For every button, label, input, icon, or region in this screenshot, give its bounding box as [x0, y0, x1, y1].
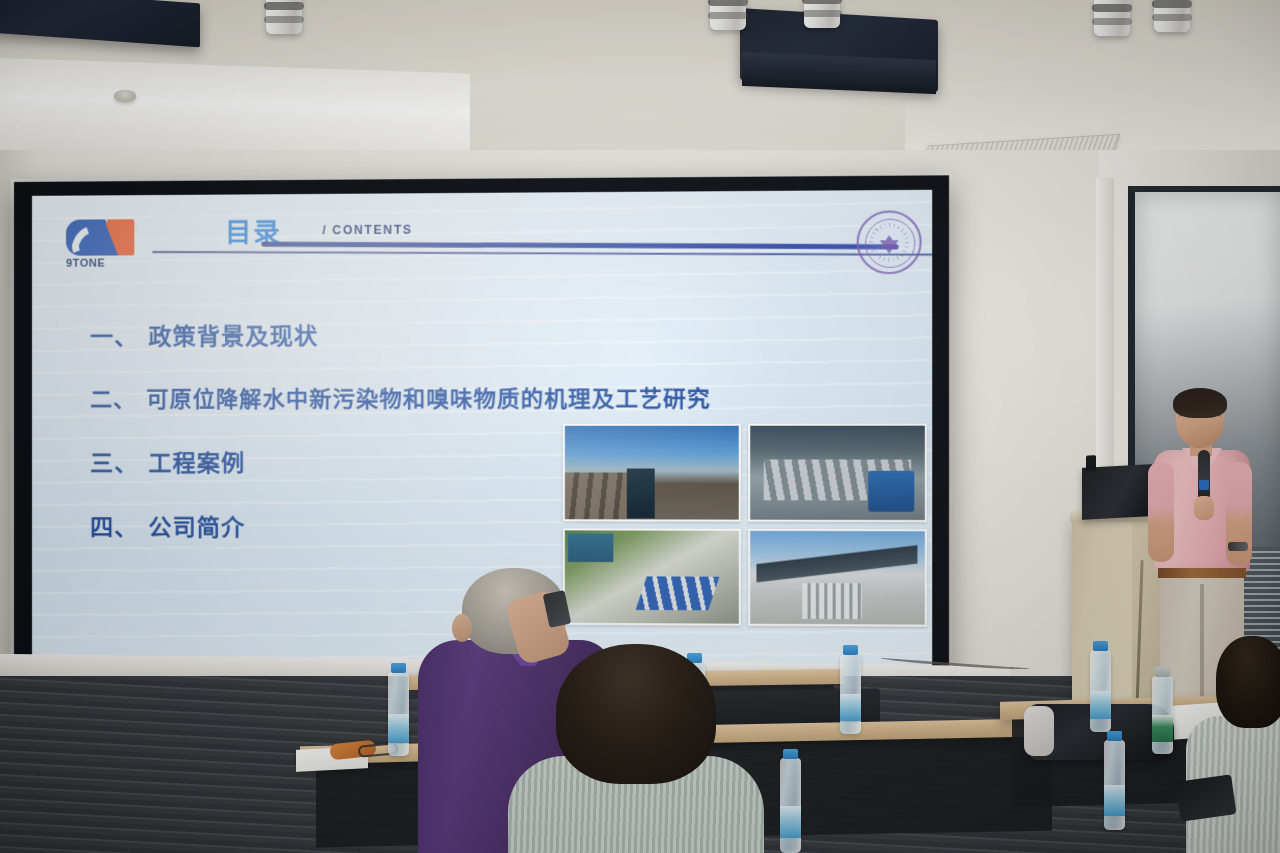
toc-label: 工程案例 — [148, 444, 245, 478]
logo-text: 9TONE — [66, 257, 134, 269]
wristwatch-icon — [1228, 542, 1248, 551]
water-bottle — [840, 654, 861, 734]
slide-photo — [748, 424, 927, 522]
university-seal-icon — [857, 210, 922, 274]
glasses-icon — [1179, 414, 1221, 422]
attendee-head — [556, 644, 716, 784]
laptop[interactable] — [1082, 464, 1152, 520]
slide-photo — [563, 528, 741, 626]
toc-number: 一、 — [90, 318, 138, 352]
water-bottle — [1152, 676, 1173, 754]
slide-logo: 9TONE — [66, 219, 134, 271]
smartphone-icon[interactable] — [1175, 774, 1236, 821]
toc-number: 三、 — [90, 444, 138, 478]
water-bottle — [1104, 740, 1125, 830]
toc-label: 公司简介 — [148, 508, 245, 542]
toc-number: 四、 — [90, 508, 138, 542]
attendee-ear — [452, 614, 472, 642]
track-light-icon — [800, 0, 844, 38]
water-bottle — [388, 672, 409, 756]
slide-photo — [748, 528, 927, 626]
smoke-detector-icon — [114, 90, 136, 102]
9tone-logo-icon — [66, 219, 134, 255]
list-item: 一、 政策背景及现状 — [90, 315, 806, 351]
page-subtitle: / CONTENTS — [322, 223, 412, 238]
toc-label: 政策背景及现状 — [148, 317, 318, 352]
water-bottle — [1090, 650, 1111, 732]
water-bottle — [780, 758, 801, 853]
slide-photo — [563, 424, 741, 521]
track-light-icon — [262, 0, 306, 44]
toc-label: 可原位降解水中新污染物和嗅味物质的机理及工艺研究 — [146, 381, 710, 414]
title-rule-primary — [261, 242, 898, 250]
track-light-icon — [1090, 0, 1134, 46]
list-item: 二、 可原位降解水中新污染物和嗅味物质的机理及工艺研究 — [90, 381, 806, 414]
track-light-icon — [706, 0, 750, 40]
slide-image-collage — [563, 424, 927, 627]
title-rule-secondary — [152, 251, 932, 256]
microphone-icon — [1198, 450, 1210, 502]
toc-number: 二、 — [90, 382, 136, 414]
conference-room-scene: 9TONE 目录 / CONTENTS 一、 政策背景及现状 二、 可原位降解水… — [0, 0, 1280, 853]
track-light-icon — [1150, 0, 1194, 42]
attendee-head — [1216, 636, 1280, 728]
